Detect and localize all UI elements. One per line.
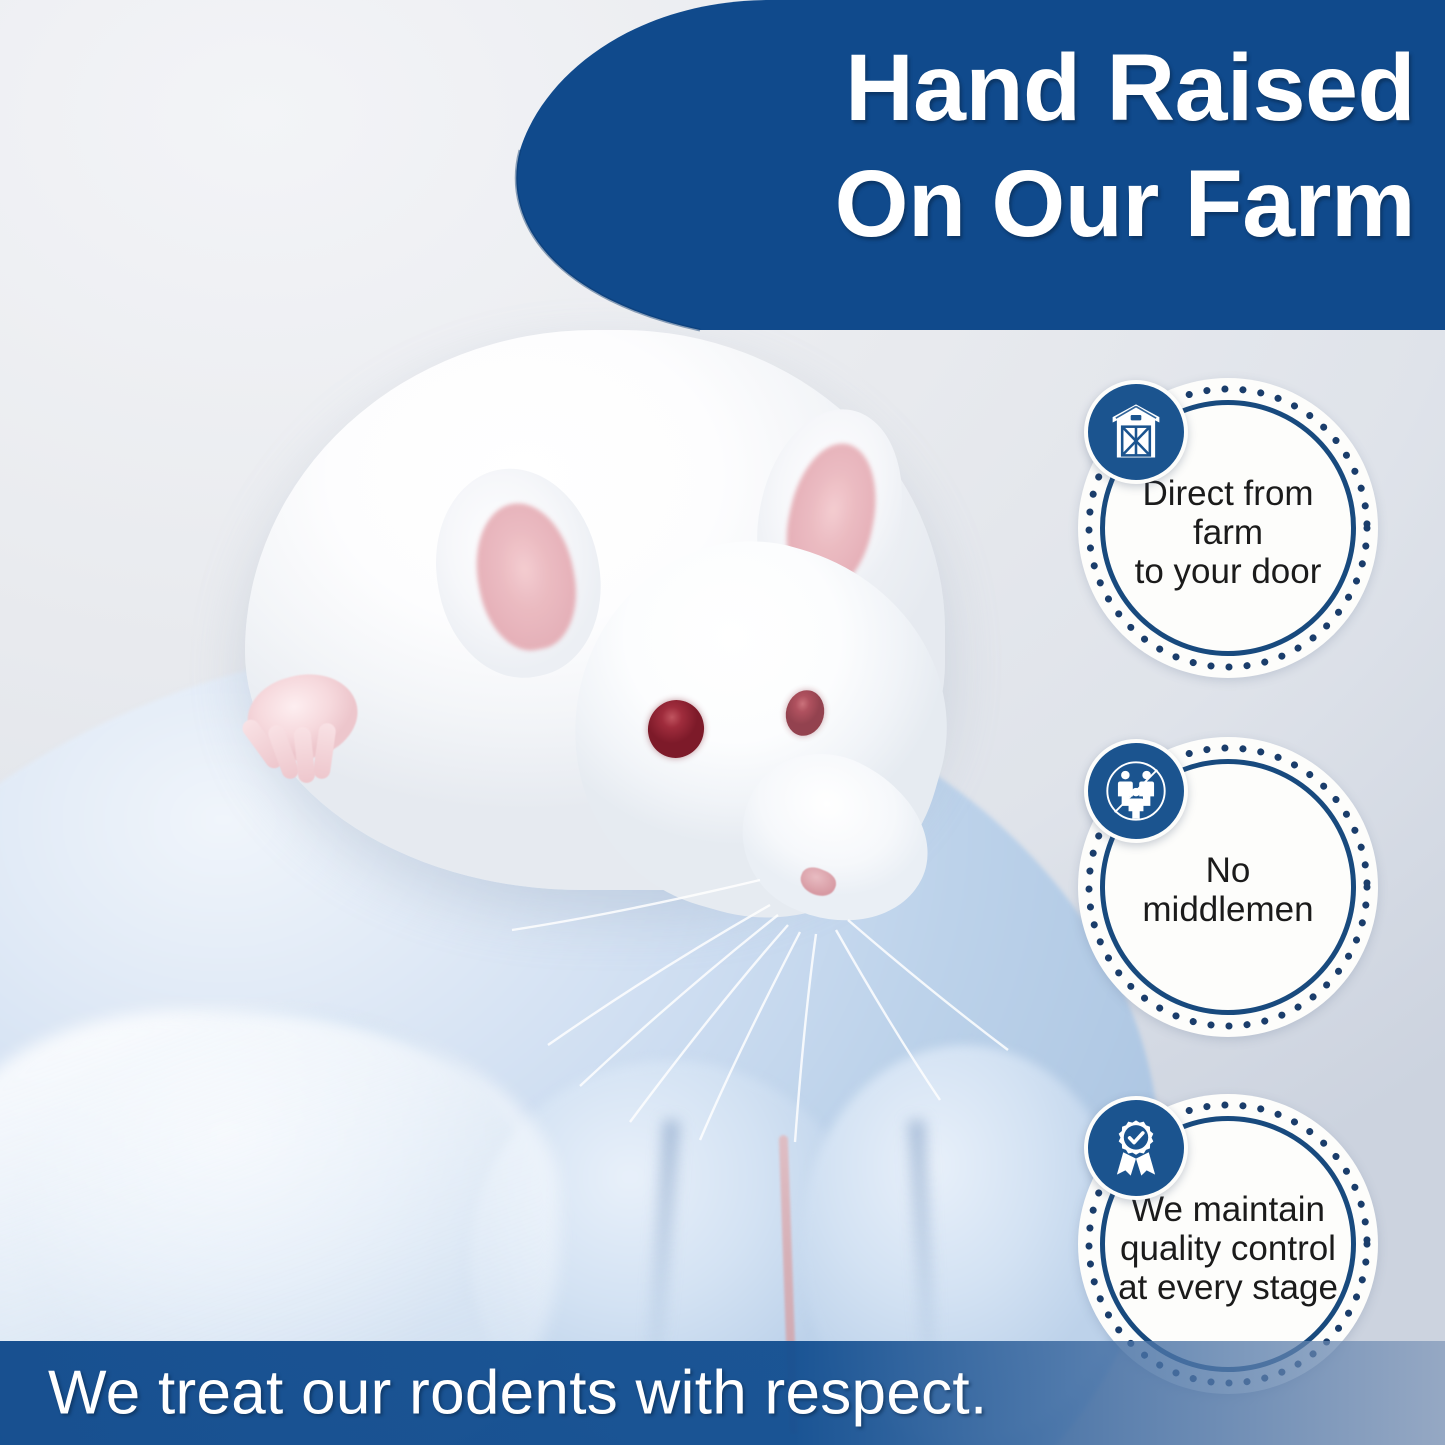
no-middlemen-icon <box>1102 757 1170 825</box>
badge-label: We maintain quality control at every sta… <box>1110 1190 1346 1308</box>
badge-label: No middlemen <box>1110 851 1346 929</box>
barn-icon <box>1102 398 1170 466</box>
header-title: Hand Raised On Our Farm <box>600 28 1415 265</box>
feature-badge-direct-from-farm[interactable]: Direct from farm to your door <box>1078 378 1378 678</box>
badge-icon-container[interactable] <box>1084 739 1188 843</box>
footer-banner: We treat our rodents with respect. <box>0 1341 1445 1445</box>
header-banner: Hand Raised On Our Farm <box>0 0 1445 333</box>
badge-icon-container[interactable] <box>1084 380 1188 484</box>
feature-badge-no-middlemen[interactable]: No middlemen <box>1078 737 1378 1037</box>
header-title-line2: On Our Farm <box>600 144 1415 266</box>
badge-icon-container[interactable] <box>1084 1096 1188 1200</box>
footer-tagline: We treat our rodents with respect. <box>48 1358 987 1429</box>
header-title-line1: Hand Raised <box>600 28 1415 150</box>
promotional-banner: Hand Raised On Our Farm Direct from farm… <box>0 0 1445 1445</box>
quality-ribbon-icon <box>1102 1114 1170 1182</box>
badge-label: Direct from farm to your door <box>1110 474 1346 592</box>
ear-inner <box>465 495 587 659</box>
